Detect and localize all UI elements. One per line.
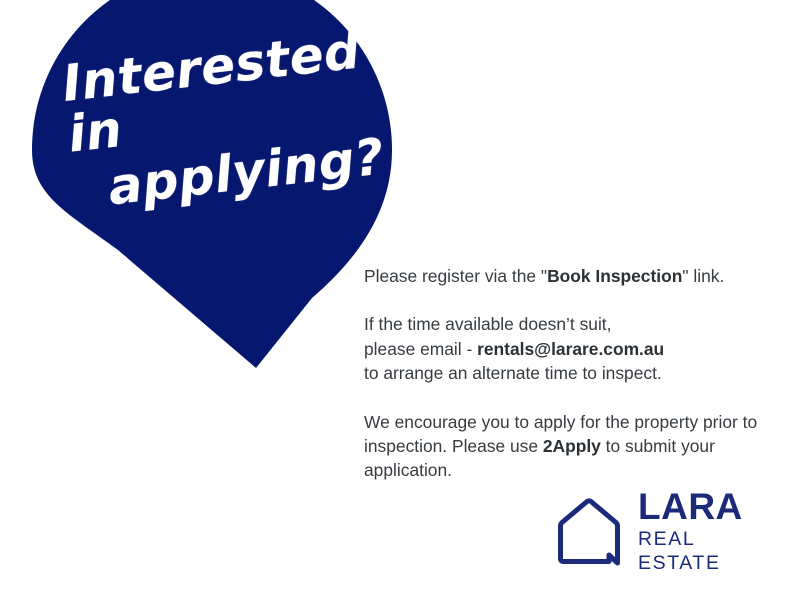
logo-wordmark: LARA REAL ESTATE	[638, 487, 768, 575]
poster-canvas: Interested in applying? Please register …	[0, 0, 800, 600]
logo-tagline: REAL ESTATE	[638, 527, 768, 575]
paragraph-register: Please register via the "Book Inspection…	[364, 264, 774, 288]
pin-headline: Interested in applying?	[36, 23, 397, 220]
2apply-label: 2Apply	[543, 436, 601, 456]
register-text-after: " link.	[682, 266, 724, 286]
rentals-email-address: rentals@larare.com.au	[477, 339, 664, 359]
lara-real-estate-logo: LARA REAL ESTATE	[556, 492, 768, 570]
logo-name: LARA	[638, 489, 768, 525]
paragraph-email: If the time available doesn’t suit, plea…	[364, 312, 774, 385]
paragraph-apply: We encourage you to apply for the proper…	[364, 410, 774, 483]
book-inspection-label: Book Inspection	[547, 266, 682, 286]
email-line-1: If the time available doesn’t suit,	[364, 314, 611, 334]
email-line-2-prefix: please email -	[364, 339, 477, 359]
instructions-body: Please register via the "Book Inspection…	[364, 264, 774, 483]
register-text-before: Please register via the "	[364, 266, 547, 286]
email-line-3: to arrange an alternate time to inspect.	[364, 363, 662, 383]
house-speech-bubble-icon	[556, 494, 622, 568]
